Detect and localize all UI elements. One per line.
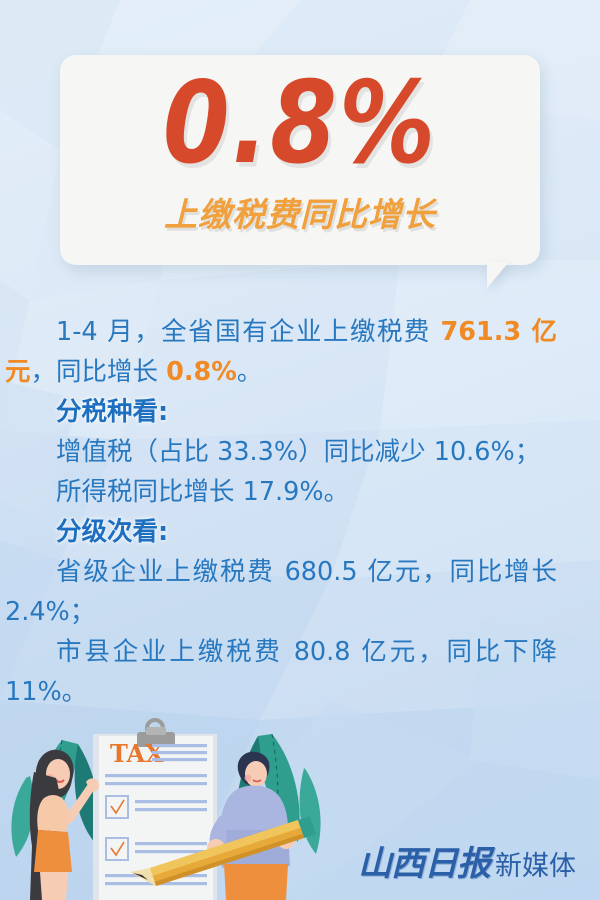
publisher-logo: 山西日报 新媒体 — [358, 836, 576, 885]
logo-brand-name: 山西日报 — [358, 836, 490, 885]
p1-pre: 1-4 月，全省国有企业上缴税费 — [56, 317, 440, 347]
section-heading-by-tax-type: 分税种看: — [5, 392, 557, 432]
logo-suffix: 新媒体 — [495, 844, 576, 883]
paragraph-provincial: 省级企业上缴税费 680.5 亿元，同比增长 2.4%； — [5, 552, 557, 632]
paragraph-city-county: 市县企业上缴税费 80.8 亿元，同比下降 11%。 — [5, 632, 557, 712]
paragraph-total: 1-4 月，全省国有企业上缴税费 761.3 亿元，同比增长 0.8%。 — [5, 312, 557, 392]
headline-percentage: 0.8% — [60, 58, 540, 188]
body-copy: 1-4 月，全省国有企业上缴税费 761.3 亿元，同比增长 0.8%。 分税种… — [5, 312, 557, 712]
paragraph-income-tax: 所得税同比增长 17.9%。 — [5, 472, 557, 512]
speech-bubble-tail-icon — [487, 262, 509, 288]
tax-illustration: TAX — [0, 712, 340, 900]
paragraph-vat: 增值税（占比 33.3%）同比减少 10.6%； — [5, 432, 557, 472]
p1-end: 。 — [237, 357, 263, 387]
p1-highlight-growth: 0.8% — [166, 357, 237, 387]
infographic-root: 0.8% 上缴税费同比增长 1-4 月，全省国有企业上缴税费 761.3 亿元，… — [0, 0, 600, 900]
headline-subtitle: 上缴税费同比增长 — [60, 188, 540, 236]
p1-mid: ，同比增长 — [31, 357, 167, 387]
section-heading-by-level: 分级次看: — [5, 512, 557, 552]
